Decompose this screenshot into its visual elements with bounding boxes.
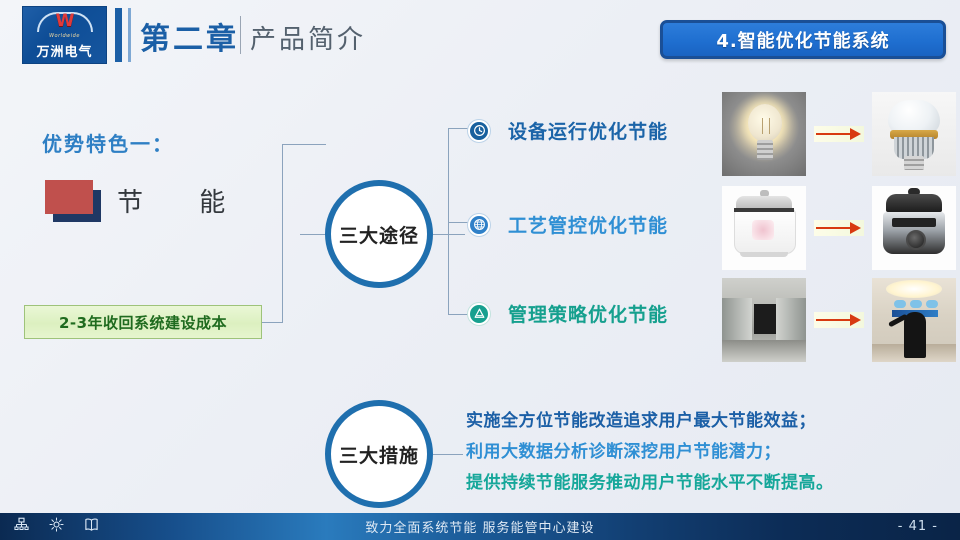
lit-corridor-photo (872, 278, 956, 362)
node-three-paths[interactable]: 三大途径 (325, 180, 433, 288)
header-divider (240, 16, 241, 54)
page-number: - 41 - (898, 513, 938, 540)
connector-branch-0 (448, 128, 468, 129)
accent-square (45, 180, 93, 214)
branch-item-process-label: 工艺管控优化节能 (508, 211, 668, 238)
header-accent-bar-thick (115, 8, 122, 62)
logo-emblem-icon: W (37, 10, 93, 32)
connector-left-vertical (282, 144, 283, 322)
slide-canvas: W Worldwide 万洲电气 第二章 产品简介 4.智能优化节能系统 优势特… (0, 0, 960, 540)
dark-corridor-photo (722, 278, 806, 362)
node-three-paths-label: 三大途径 (339, 221, 419, 248)
globe-grid-icon (468, 214, 490, 236)
chapter-label: 第二章 (140, 14, 239, 58)
connector-branch-1 (448, 222, 468, 223)
branch-item-equipment-label: 设备运行优化节能 (508, 117, 668, 144)
slide-header: W Worldwide 万洲电气 第二章 产品简介 4.智能优化节能系统 (0, 0, 960, 75)
header-accent-bar-thin (128, 8, 131, 62)
logo-subtext: Worldwide (49, 33, 80, 39)
branch-item-equipment[interactable]: 设备运行优化节能 (468, 117, 668, 144)
logo-company-name: 万洲电气 (36, 41, 92, 60)
payback-callout-box: 2-3年收回系统建设成本 (24, 305, 262, 339)
led-bulb-photo (872, 92, 956, 176)
connector-branch-2 (448, 314, 468, 315)
arrow-right-icon (814, 312, 864, 328)
connector-paths-stub-right (433, 234, 465, 235)
energy-saving-row: 节 能 (45, 180, 275, 228)
electric-pressure-cooker-photo (872, 186, 956, 270)
energy-saving-label: 节 能 (117, 182, 249, 219)
connector-left-top (282, 144, 326, 145)
old-rice-cooker-photo (722, 186, 806, 270)
measure-line-2: 利用大数据分析诊断深挖用户节能潜力； (466, 437, 781, 462)
connector-branch-spine (448, 128, 449, 314)
payback-callout-label: 2-3年收回系统建设成本 (59, 312, 227, 333)
image-pair-lighting (722, 92, 958, 176)
topic-banner-label: 4.智能优化节能系统 (716, 27, 889, 53)
clock-icon (468, 120, 490, 142)
connector-paths-stub-left (300, 234, 326, 235)
incandescent-bulb-photo (722, 92, 806, 176)
footer-slogan: 致力全面系统节能 服务能管中心建设 (0, 513, 960, 540)
page-title: 产品简介 (250, 19, 366, 56)
node-three-measures-label: 三大措施 (339, 441, 419, 468)
image-pair-corridor (722, 278, 958, 362)
measure-line-1: 实施全方位节能改造追求用户最大节能效益； (466, 406, 816, 431)
feature-heading: 优势特色一： (42, 128, 174, 157)
image-pair-cooker (722, 186, 958, 270)
triangle-badge-icon (468, 303, 490, 325)
branch-item-management-label: 管理策略优化节能 (508, 300, 668, 327)
company-logo: W Worldwide 万洲电气 (22, 6, 107, 64)
measure-line-3: 提供持续节能服务推动用户节能水平不断提高。 (466, 468, 834, 493)
arrow-right-icon (814, 126, 864, 142)
node-three-measures[interactable]: 三大措施 (325, 400, 433, 508)
connector-left-bottom (262, 322, 283, 323)
slide-footer: 致力全面系统节能 服务能管中心建设 - 41 - (0, 513, 960, 540)
branch-item-process[interactable]: 工艺管控优化节能 (468, 211, 668, 238)
topic-banner: 4.智能优化节能系统 (660, 20, 946, 59)
logo-w-mark: W (37, 12, 93, 31)
branch-item-management[interactable]: 管理策略优化节能 (468, 300, 668, 327)
connector-measures-stub (433, 454, 463, 455)
arrow-right-icon (814, 220, 864, 236)
